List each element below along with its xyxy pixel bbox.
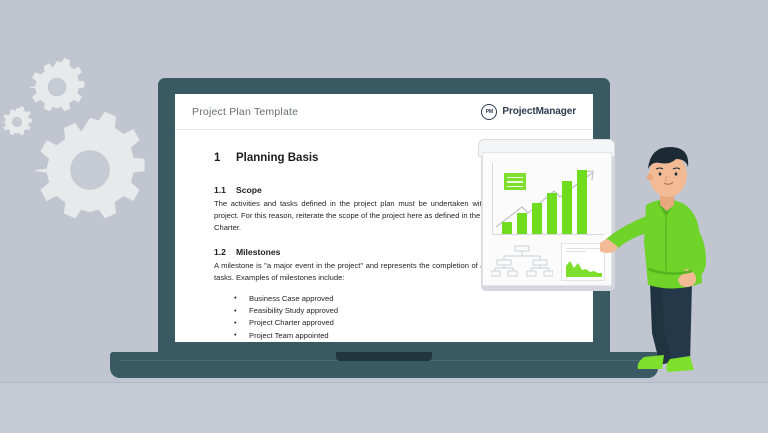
floor <box>0 382 768 433</box>
brand-logo: PM ProjectManager <box>481 104 576 120</box>
bar <box>532 203 542 234</box>
subsection-title: Scope <box>236 185 262 195</box>
subsection-number: 1.1 <box>214 185 236 195</box>
subsection-number: 1.2 <box>214 247 236 257</box>
heading-text: Planning Basis <box>236 152 318 164</box>
scene: Project Plan Template PM ProjectManager … <box>0 0 768 432</box>
heading-number: 1 <box>214 152 236 164</box>
presenter-illustration <box>600 143 730 389</box>
document-header: Project Plan Template PM ProjectManager <box>175 94 593 130</box>
laptop-base <box>110 352 658 378</box>
milestones-paragraph: A milestone is "a major event in the pro… <box>214 260 506 284</box>
bar <box>577 170 587 234</box>
brand-name: ProjectManager <box>502 106 576 117</box>
subsection-title: Milestones <box>236 247 280 257</box>
bar-series <box>502 166 602 234</box>
trackpad-notch <box>336 352 432 361</box>
gear-large-icon <box>28 108 152 232</box>
list-item: Business Case approved <box>234 293 567 305</box>
area-chart-card <box>561 243 605 281</box>
page-title: Project Plan Template <box>192 106 298 118</box>
org-chart-icon <box>491 245 553 279</box>
pm-circle-icon: PM <box>481 104 497 120</box>
presentation-board <box>478 139 618 291</box>
shoe-left-icon <box>638 355 664 369</box>
milestones-list: Business Case approved Feasibility Study… <box>214 293 567 342</box>
scope-paragraph: The activities and tasks defined in the … <box>214 198 506 233</box>
ear <box>647 174 654 181</box>
bar <box>502 222 512 234</box>
bar <box>547 193 557 234</box>
bar <box>517 213 527 234</box>
list-item: Feasibility Study approved <box>234 305 567 317</box>
list-item: Project Charter approved <box>234 317 567 329</box>
bar-chart <box>492 163 604 235</box>
board-face <box>482 152 612 286</box>
bar <box>562 181 572 234</box>
list-item: Project Team appointed <box>234 330 567 342</box>
area-chart-icon <box>566 257 602 277</box>
